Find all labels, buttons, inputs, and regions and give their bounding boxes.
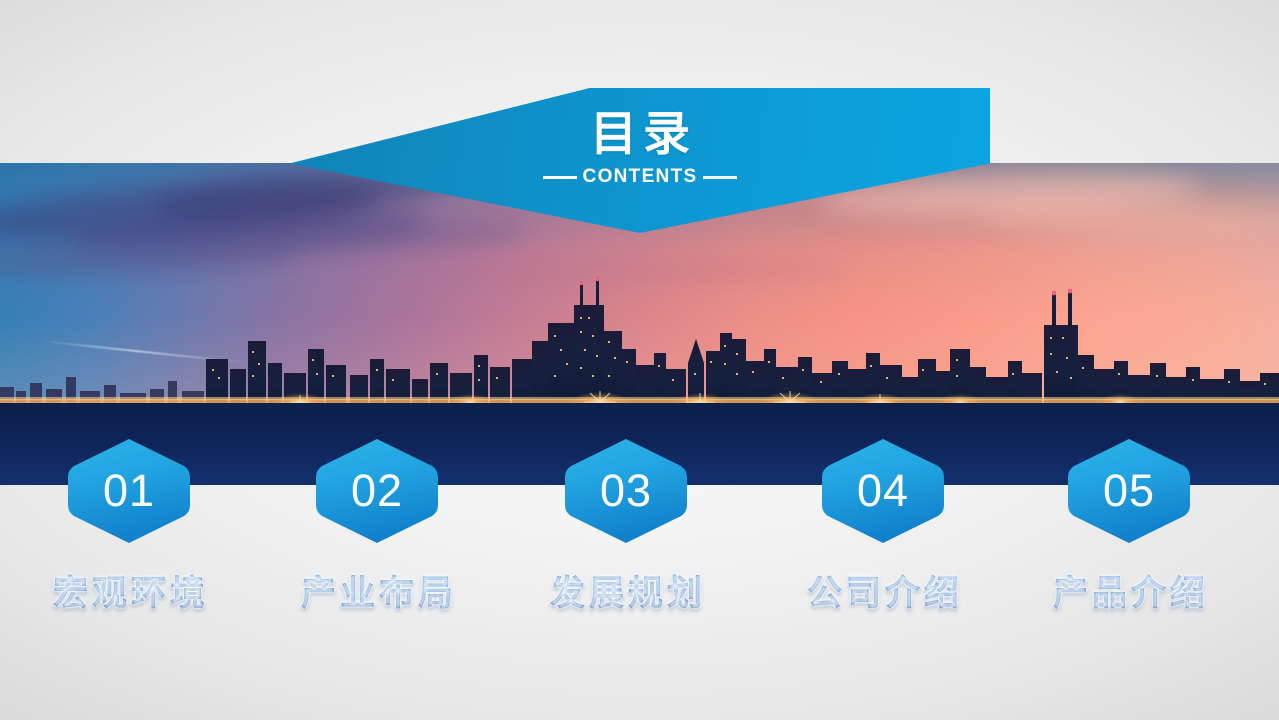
agenda-item-03[interactable]: 03 发展规划 — [500, 437, 752, 616]
item-label: 公司介绍 — [757, 565, 1009, 616]
hex-badge-04[interactable]: 04 — [820, 437, 946, 545]
agenda-item-01[interactable]: 01 宏观环境 — [3, 437, 255, 616]
antenna-beacons — [579, 277, 1072, 296]
item-number: 05 — [1066, 437, 1192, 545]
agenda-item-05[interactable]: 05 产品介绍 — [1003, 437, 1255, 616]
agenda-item-02[interactable]: 02 产业布局 — [251, 437, 503, 616]
hex-badge-05[interactable]: 05 — [1066, 437, 1192, 545]
item-label: 宏观环境 — [3, 565, 255, 616]
item-number: 04 — [820, 437, 946, 545]
right-buildings — [848, 289, 1279, 405]
agenda-item-04[interactable]: 04 公司介绍 — [757, 437, 1009, 616]
item-number: 02 — [314, 437, 440, 545]
item-number: 01 — [66, 437, 192, 545]
hex-badge-03[interactable]: 03 — [563, 437, 689, 545]
hex-badge-02[interactable]: 02 — [314, 437, 440, 545]
item-number: 03 — [563, 437, 689, 545]
item-label: 产业布局 — [251, 565, 503, 616]
item-label: 发展规划 — [500, 565, 752, 616]
center-buildings — [512, 277, 848, 405]
slide-canvas: 目录 CONTENTS 01 — [0, 0, 1279, 720]
hex-badge-01[interactable]: 01 — [66, 437, 192, 545]
item-label: 产品介绍 — [1003, 565, 1255, 616]
